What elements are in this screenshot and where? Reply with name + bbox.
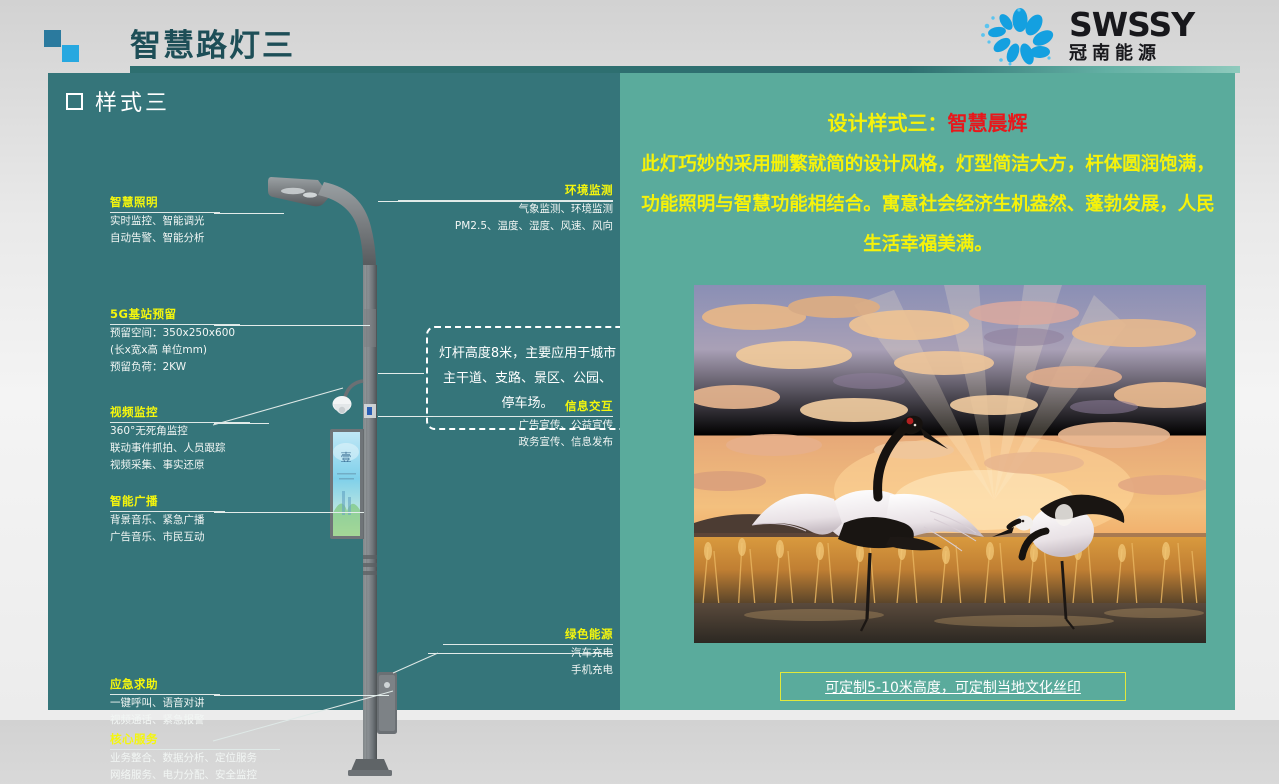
square-bullet-icon (66, 93, 83, 110)
page-title: 智慧路灯三 (130, 20, 295, 65)
design-title-prefix: 设计样式三： (828, 111, 948, 135)
callout-environment-monitoring: 环境监测 气象监测、环境监测 PM2.5、温度、湿度、风速、风向 (398, 182, 613, 235)
customization-caption-box: 可定制5-10米高度，可定制当地文化丝印 (780, 672, 1126, 701)
leader-line-note (378, 373, 424, 374)
style-heading: 样式三 (66, 85, 170, 117)
callout-smart-broadcast: 智能广播 背景音乐、紧急广播 广告音乐、市民互动 (110, 493, 225, 546)
pole-height-note: 灯杆高度8米，主要应用于城市主干道、支路、景区、公园、停车场。 (426, 326, 629, 430)
crane-photo-graphic (694, 285, 1206, 643)
brand-text-block: SWSSY 冠南能源 (1069, 8, 1194, 66)
square-light-icon (62, 45, 79, 62)
slide-header: 智慧路灯三 SWSSY 冠南能源 (0, 0, 1279, 73)
callout-video-surveillance: 视频监控 360°无死角监控 联动事件抓拍、人员跟踪 视频采集、事实还原 (110, 404, 250, 474)
callout-emergency-help: 应急求助 一键呼叫、语音对讲 视频通话、紧急报警 (110, 676, 220, 729)
callout-green-energy: 绿色能源 汽车充电 手机充电 (443, 626, 613, 679)
swssy-flower-icon (977, 8, 1063, 66)
leader-line (214, 213, 284, 214)
callout-core-services: 核心服务 业务整合、数据分析、定位服务 网络服务、电力分配、安全监控 (110, 731, 280, 784)
square-dark-icon (44, 30, 61, 47)
leader-line (214, 512, 364, 513)
brand-subtitle: 冠南能源 (1069, 42, 1194, 66)
style-label: 样式三 (95, 85, 170, 117)
design-style-title: 设计样式三：智慧晨辉 (620, 107, 1235, 136)
brand-name: SWSSY (1069, 8, 1194, 42)
crane-sunset-photo (694, 285, 1206, 643)
right-content-panel: 设计样式三：智慧晨辉 此灯巧妙的采用删繁就简的设计风格，灯型简洁大方，杆体圆润饱… (620, 73, 1235, 710)
callout-5g-reserve: 5G基站预留 预留空间：350x250x600 (长x宽x高 单位mm) 预留负… (110, 306, 240, 376)
left-content-panel: 样式三 (48, 73, 620, 710)
design-description: 此灯巧妙的采用删繁就简的设计风格，灯型简洁大方，杆体圆润饱满，功能照明与智慧功能… (638, 145, 1218, 265)
decorative-squares-icon (44, 30, 84, 62)
brand-logo: SWSSY 冠南能源 (977, 6, 1237, 68)
callout-smart-lighting: 智慧照明 实时监控、智能调光 自动告警、智能分析 (110, 194, 220, 247)
design-title-highlight: 智慧晨辉 (948, 111, 1028, 135)
